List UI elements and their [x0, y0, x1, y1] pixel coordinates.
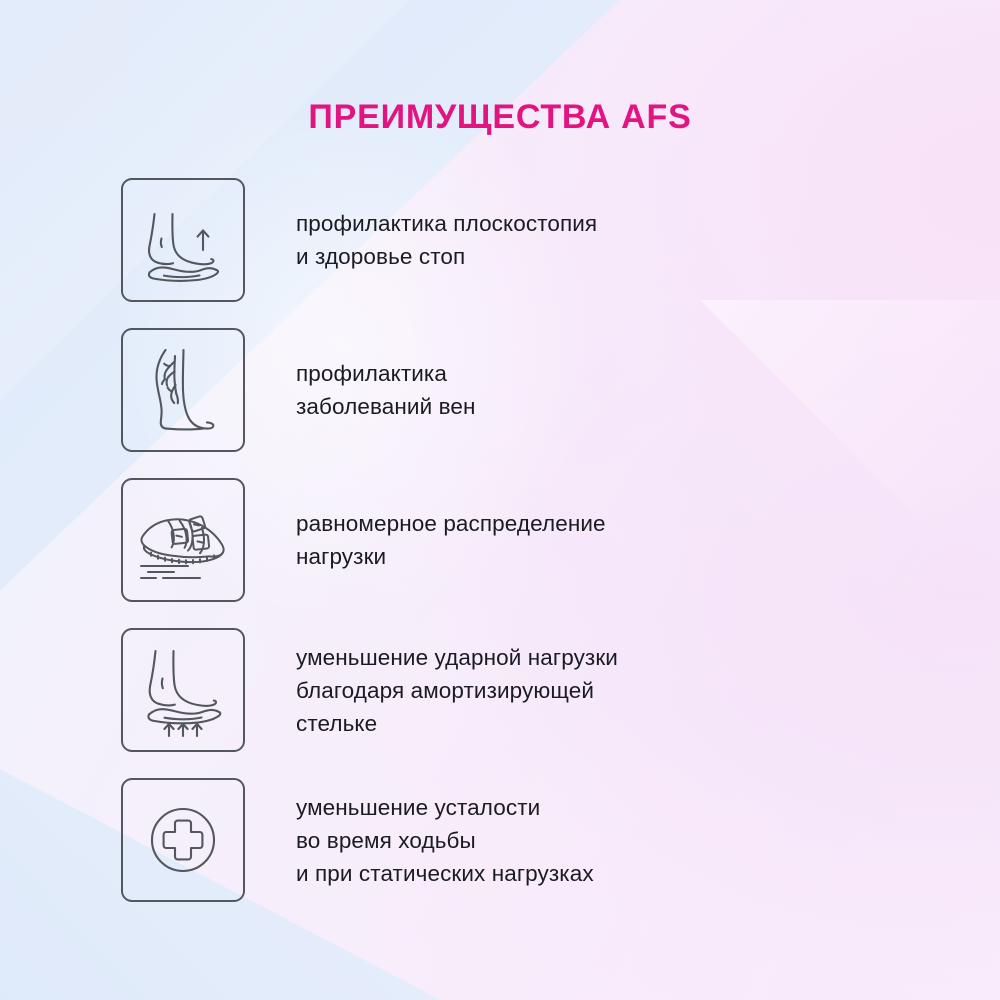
benefit-text-4: уменьшение ударной нагрузки благодаря ам… — [296, 641, 618, 740]
list-item: профилактика заболеваний вен — [121, 328, 921, 452]
benefit-text-5: уменьшение усталости во время ходьбы и п… — [296, 791, 594, 890]
poster-content: ПРЕИМУЩЕСТВА AFS — [0, 0, 1000, 1000]
foot-on-insole-arrow-up-icon — [131, 188, 235, 292]
benefit-icon-box-3 — [121, 478, 245, 602]
benefit-text-2: профилактика заболеваний вен — [296, 357, 476, 423]
benefit-icon-box-1 — [121, 178, 245, 302]
list-item: уменьшение ударной нагрузки благодаря ам… — [121, 628, 921, 752]
benefit-icon-box-2 — [121, 328, 245, 452]
list-item: равномерное распределение нагрузки — [121, 478, 921, 602]
benefits-list: профилактика плоскостопия и здоровье сто… — [121, 178, 921, 928]
two-strap-sandal-icon — [130, 487, 236, 593]
circle-plus-medical-icon — [135, 792, 231, 888]
benefit-text-3: равномерное распределение нагрузки — [296, 507, 606, 573]
foot-insole-three-arrows-icon — [131, 638, 235, 742]
list-item: профилактика плоскостопия и здоровье сто… — [121, 178, 921, 302]
benefit-icon-box-4 — [121, 628, 245, 752]
page-title: ПРЕИМУЩЕСТВА AFS — [0, 98, 1000, 137]
benefit-text-1: профилактика плоскостопия и здоровье сто… — [296, 207, 597, 273]
leg-veins-icon — [131, 338, 235, 442]
benefit-icon-box-5 — [121, 778, 245, 902]
poster-root: ПРЕИМУЩЕСТВА AFS — [0, 0, 1000, 1000]
list-item: уменьшение усталости во время ходьбы и п… — [121, 778, 921, 902]
